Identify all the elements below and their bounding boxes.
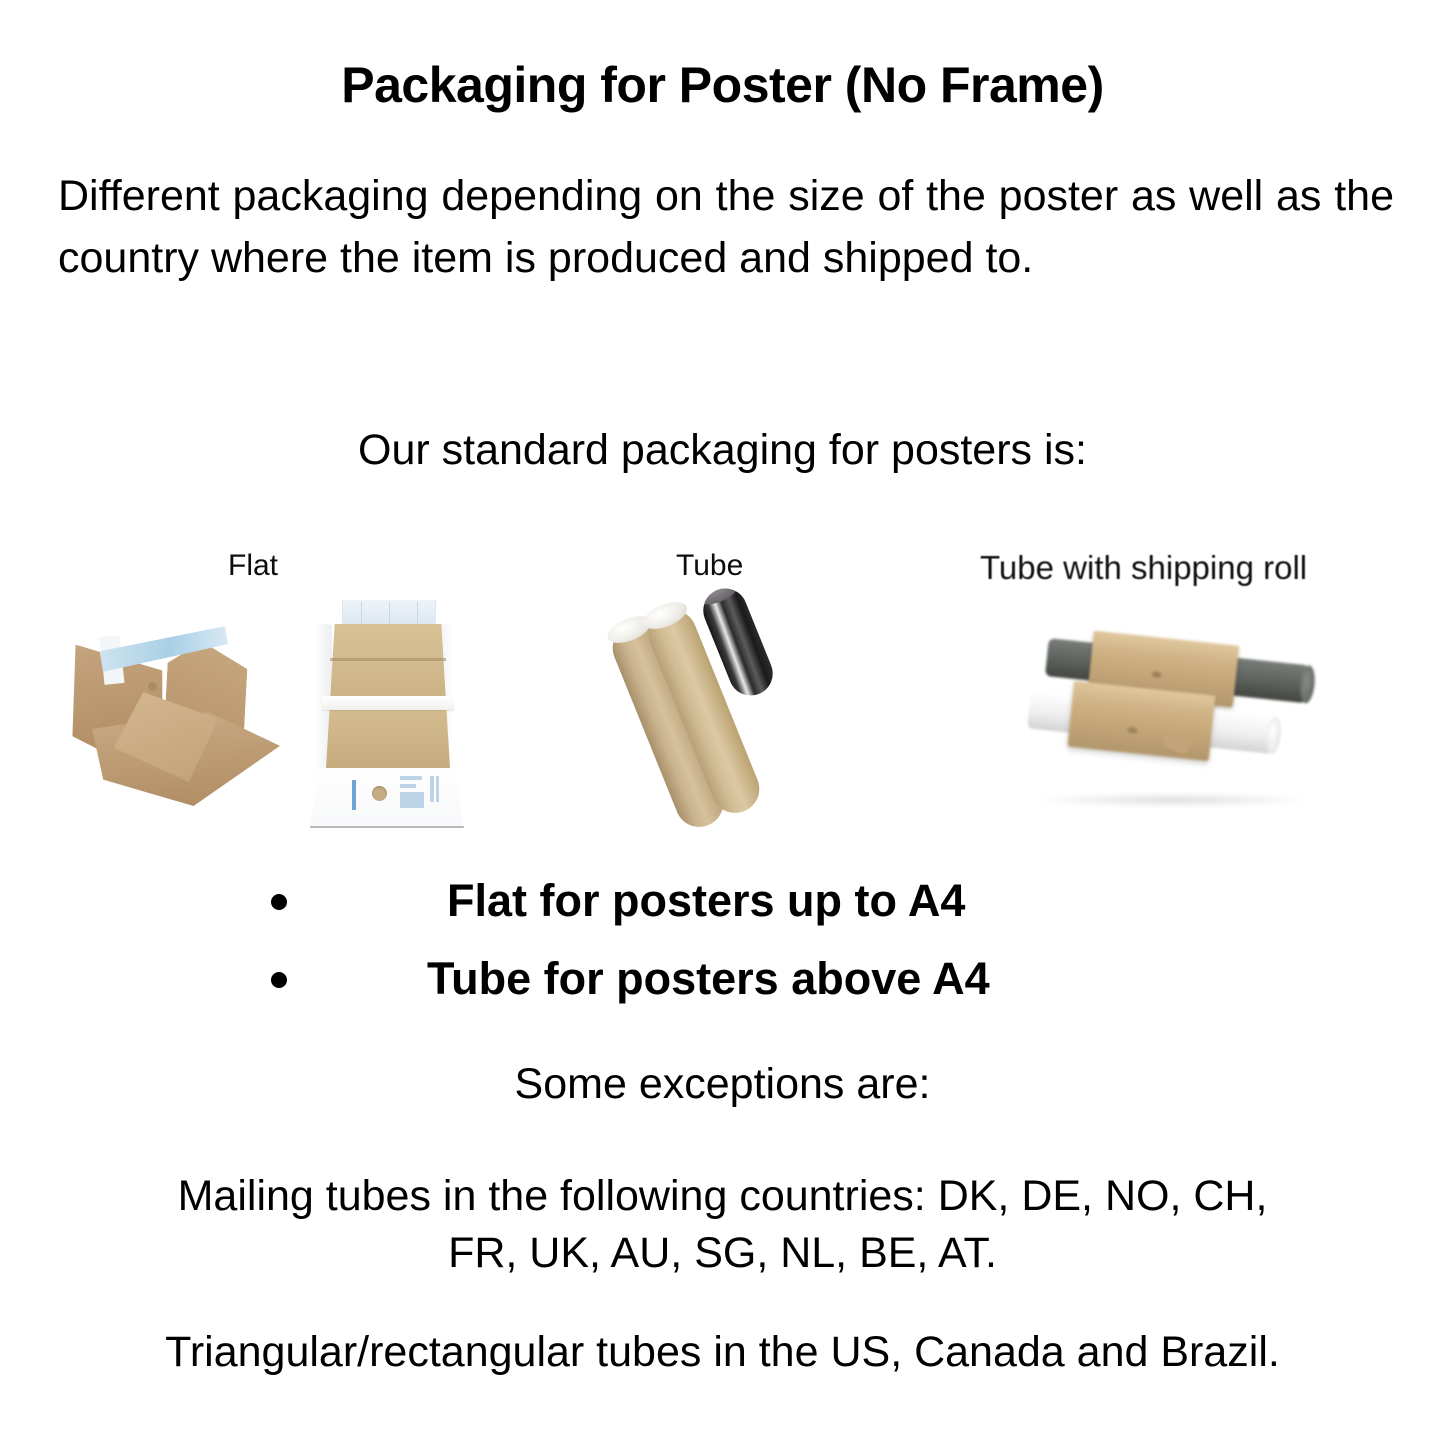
roll-end-cap — [1265, 715, 1283, 754]
shipping-roll-tubes-shape — [1028, 634, 1328, 804]
kraft-sleeve-front — [1067, 681, 1215, 761]
mailing-tubes-line-1: Mailing tubes in the following countries… — [178, 1172, 1268, 1220]
exceptions-heading: Some exceptions are: — [0, 1057, 1445, 1113]
roll-end-cap — [1299, 665, 1317, 704]
bullet-marker-icon — [271, 894, 287, 910]
standard-packaging-heading: Our standard packaging for posters is: — [0, 423, 1445, 479]
mailing-tubes-countries: Mailing tubes in the following countries… — [60, 1168, 1385, 1282]
bullet-marker-icon — [271, 972, 287, 988]
sleeve-nub — [1151, 671, 1162, 678]
list-item-label: Flat for posters up to A4 — [447, 868, 965, 933]
sleeve-top-face — [1092, 631, 1239, 665]
sleeve-tab — [1163, 735, 1195, 756]
closing-statement: Triangular/rectangular tubes in the US, … — [0, 1325, 1445, 1381]
list-item: Flat for posters up to A4 — [0, 868, 1445, 946]
intro-paragraph: Different packaging depending on the siz… — [58, 166, 1394, 290]
page-title: Packaging for Poster (No Frame) — [0, 58, 1445, 113]
mailing-tubes-line-2: FR, UK, AU, SG, NL, BE, AT. — [448, 1229, 997, 1277]
list-item: Tube for posters above A4 — [0, 946, 1445, 1024]
sleeve-nub — [1127, 727, 1138, 734]
packaging-info-page: Packaging for Poster (No Frame) Differen… — [0, 0, 1445, 1445]
figure-shadow — [1038, 792, 1308, 808]
packaging-rules-list: Flat for posters up to A4 Tube for poste… — [0, 868, 1445, 1024]
tube-with-shipping-roll-icon — [0, 548, 1445, 838]
list-item-label: Tube for posters above A4 — [427, 946, 990, 1011]
packaging-figure-gallery: Flat — [0, 548, 1445, 838]
